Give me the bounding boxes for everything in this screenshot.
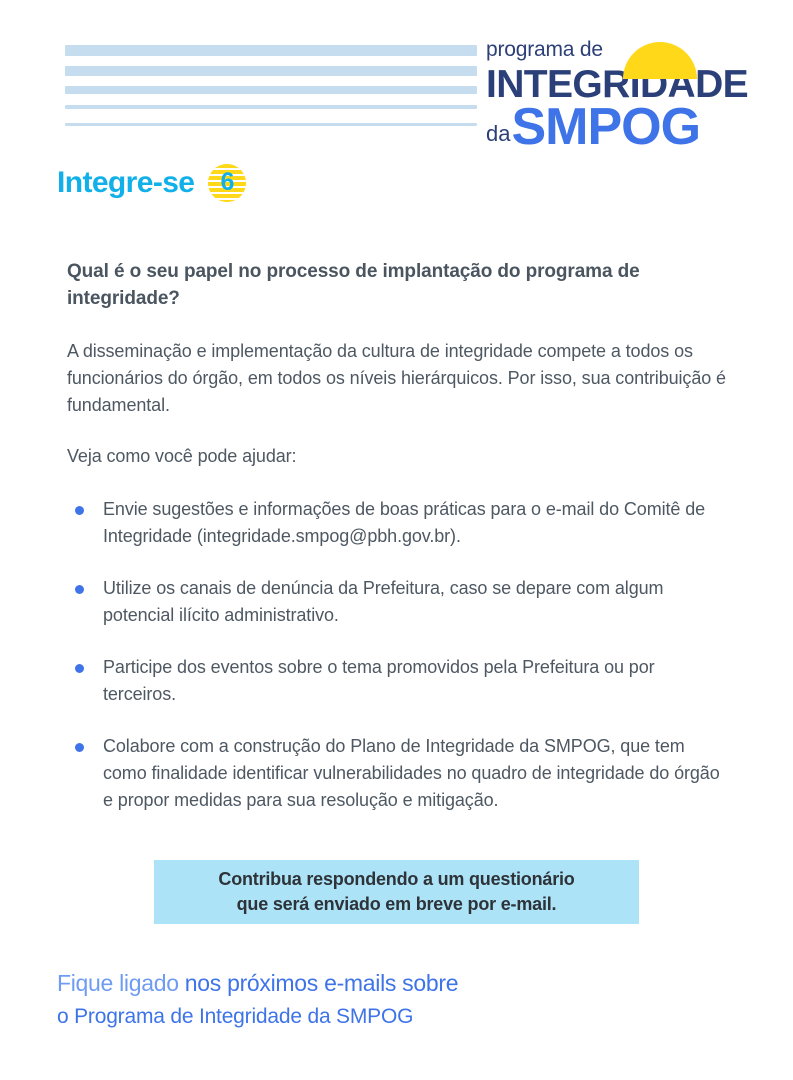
stripe-1	[65, 45, 477, 56]
section-title-row: Integre-se 6	[57, 164, 246, 202]
logo-bottom-row: da SMPOG	[486, 101, 736, 153]
number-badge-icon: 6	[208, 164, 246, 202]
stripe-5	[65, 123, 477, 126]
logo-top-row: programa de	[486, 38, 736, 64]
logo-programa-de-text: programa de	[486, 38, 603, 62]
callout-line-1: Contribua respondendo a um questionário	[218, 867, 574, 892]
page-title: Integre-se	[57, 166, 194, 200]
callout-box: Contribua respondendo a um questionário …	[154, 860, 639, 924]
main-content: Qual é o seu papel no processo de implan…	[67, 258, 732, 814]
stripe-3	[65, 86, 477, 94]
yellow-half-dome-icon	[623, 42, 697, 79]
list-item: Envie sugestões e informações de boas pr…	[67, 496, 732, 550]
programa-integridade-smpog-logo: programa de INTEGRIDADE da SMPOG	[486, 38, 736, 153]
page-footer: Fique ligado nos próximos e-mails sobre …	[57, 968, 737, 1032]
page-header: programa de INTEGRIDADE da SMPOG	[0, 0, 793, 160]
logo-da-text: da	[486, 119, 510, 149]
intro-paragraph: A disseminação e implementação da cultur…	[67, 338, 732, 419]
list-item: Utilize os canais de denúncia da Prefeit…	[67, 575, 732, 629]
footer-line-1: Fique ligado nos próximos e-mails sobre	[57, 968, 737, 998]
stripe-4	[65, 105, 477, 109]
footer-line-2: o Programa de Integridade da SMPOG	[57, 1002, 737, 1032]
stripe-2	[65, 66, 477, 76]
list-item: Colabore com a construção do Plano de In…	[67, 733, 732, 814]
footer-rest-text: nos próximos e-mails sobre	[179, 970, 459, 996]
help-list: Envie sugestões e informações de boas pr…	[67, 496, 732, 814]
logo-smpog-text: SMPOG	[511, 101, 700, 153]
question-heading: Qual é o seu papel no processo de implan…	[67, 258, 732, 312]
list-item: Participe dos eventos sobre o tema promo…	[67, 654, 732, 708]
callout-line-2: que será enviado em breve por e-mail.	[237, 892, 557, 917]
help-intro-paragraph: Veja como você pode ajudar:	[67, 443, 732, 470]
footer-highlight-text: Fique ligado	[57, 970, 179, 996]
badge-number: 6	[220, 170, 234, 195]
decorative-stripes-icon	[65, 45, 477, 126]
